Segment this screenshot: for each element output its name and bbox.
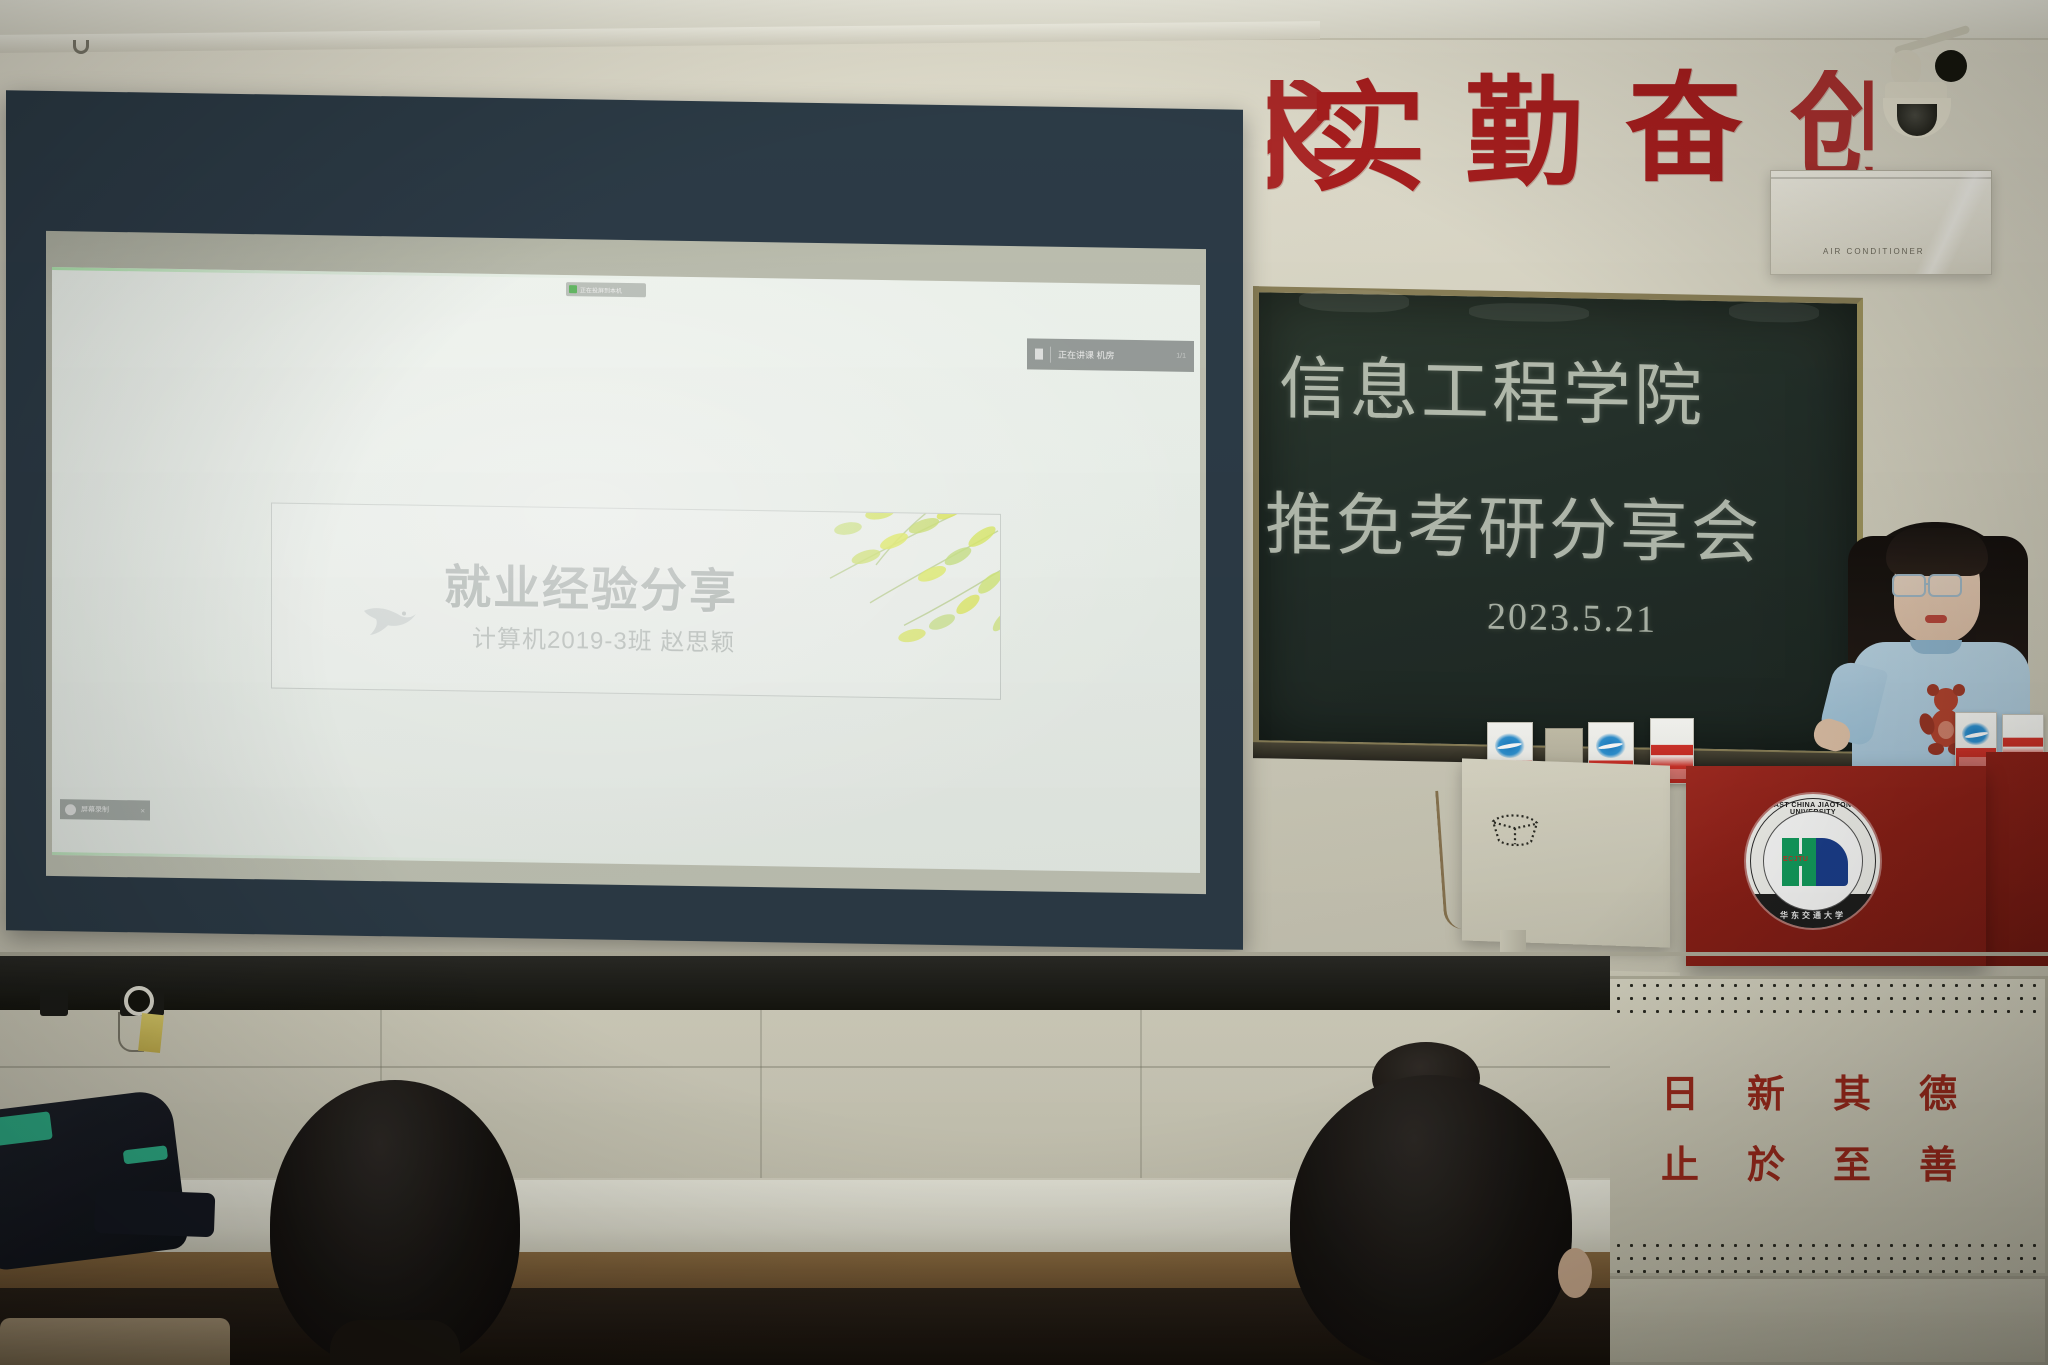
plaque-char: 善 (1919, 1134, 1957, 1189)
blackboard-line-1: 信息工程学院 (1279, 333, 1705, 440)
presenter-collar (1910, 640, 1962, 654)
podium: EAST CHINA JIAOTONG UNIVERSITY ECJTU 华东交… (1686, 766, 1986, 966)
toast-meta: 1/1 (1176, 353, 1186, 360)
backpack-clip (123, 1145, 168, 1164)
blackboard-date: 2023.5.21 (1487, 595, 1657, 642)
panel-perforation-top (1573, 979, 2045, 1013)
slide-card: 就业经验分享 计算机2019-3班 赵思颖 (271, 502, 1001, 699)
camera-hole (1935, 50, 1967, 82)
screen-share-label: 正在投屏到本机 (580, 285, 622, 295)
air-conditioner: AIR CONDITIONER (1770, 170, 1992, 275)
plaque-line-2: 止 於 至 善 (1609, 1134, 2009, 1189)
glasses-lens-right (1928, 574, 1962, 597)
presenter-bangs (1886, 528, 1988, 576)
plaque-char: 新 (1747, 1063, 1785, 1118)
motto-char-2: 勤 (1465, 76, 1583, 194)
camera-dome (1883, 98, 1951, 138)
projection-screen-surface: 就业经验分享 计算机2019-3班 赵思颖 正在投屏到本机 正在讲课 机房 1/… (46, 231, 1206, 894)
backpack-tag (0, 1111, 53, 1146)
chair-back (0, 1318, 230, 1365)
close-icon[interactable]: × (140, 806, 145, 815)
podium-side (1986, 752, 2048, 966)
emblem-mark-text: ECJTU (1783, 856, 1808, 863)
tile-seam (0, 1066, 1610, 1068)
plaque-char: 至 (1833, 1134, 1871, 1189)
toast-app-icon (1035, 348, 1043, 359)
chalk-smear (1469, 302, 1589, 322)
glasses-bridge (1926, 583, 1930, 585)
student-neck (330, 1320, 460, 1365)
emblem-arc-bottom: 华东交通大学 (1746, 910, 1880, 921)
blackboard-line-2: 推免考研分享会 (1265, 468, 1762, 577)
plaque-char: 德 (1919, 1063, 1957, 1118)
ac-sheen (1911, 171, 1991, 274)
slide-title: 就业经验分享 (444, 548, 738, 622)
teaching-console[interactable] (1462, 758, 1670, 947)
plaque-char: 於 (1747, 1134, 1785, 1189)
motto-char-1: 实 (1308, 82, 1426, 200)
flying-bird-icon (360, 601, 420, 638)
glasses-lens-left (1892, 574, 1926, 597)
recording-label: 屏幕录制 (81, 804, 109, 814)
panel-plaque: 日 新 其 德 止 於 至 善 (1609, 1063, 2009, 1193)
projection-edge (52, 852, 1200, 873)
plaque-char: 其 (1833, 1063, 1871, 1118)
blackboard: 信息工程学院 推免考研分享会 2023.5.21 (1253, 286, 1863, 758)
camera-knob (1891, 50, 1921, 86)
socket-tag (138, 1013, 164, 1053)
carton-logo (1596, 733, 1626, 758)
tile-seam (760, 1010, 762, 1180)
notification-toast[interactable]: 正在讲课 机房 1/1 (1027, 338, 1194, 372)
slide-subtitle: 计算机2019-3班 赵思颖 (472, 619, 735, 658)
security-camera-icon (1875, 14, 1985, 134)
plaque-line-1: 日 新 其 德 (1609, 1063, 2009, 1118)
presenter-lips (1925, 615, 1947, 623)
toast-title: 正在讲课 机房 (1058, 348, 1115, 362)
plaque-char: 日 (1661, 1063, 1699, 1118)
chalk-smear (1299, 289, 1409, 313)
student-head (1290, 1075, 1572, 1365)
projection-screen-frame: 就业经验分享 计算机2019-3班 赵思颖 正在投屏到本机 正在讲课 机房 1/… (6, 90, 1243, 949)
backpack (0, 1088, 189, 1271)
console-logo-icon (1488, 807, 1542, 851)
plaque-char: 止 (1661, 1134, 1699, 1189)
projected-desktop: 就业经验分享 计算机2019-3班 赵思颖 正在投屏到本机 正在讲课 机房 1/… (52, 267, 1200, 873)
chalk-smear (1729, 301, 1819, 323)
panel-perforation-bottom (1573, 1239, 2045, 1273)
university-emblem: EAST CHINA JIAOTONG UNIVERSITY ECJTU 华东交… (1746, 794, 1880, 928)
toast-divider (1050, 346, 1051, 362)
ac-brand-label: AIR CONDITIONER (1823, 247, 1925, 256)
wall-socket[interactable] (40, 990, 68, 1016)
motto-char-3: 奋 (1625, 72, 1743, 190)
tile-seam (1140, 1010, 1142, 1180)
student-ear (1558, 1248, 1592, 1298)
front-panel-base (1570, 1276, 2048, 1365)
classroom-photo: 求 实 勤 奋 创 AIR CONDITIONER 信息工程学院 推免考研分享会… (0, 0, 2048, 1365)
backpack-pocket (94, 1189, 215, 1237)
front-wall-panel: 日 新 其 德 止 於 至 善 (1570, 976, 2048, 1276)
record-icon (65, 804, 76, 815)
recording-chip[interactable]: 屏幕录制 × (60, 799, 150, 820)
carton-logo (1962, 722, 1989, 746)
carton-logo (1495, 733, 1525, 758)
wall-dado-band (0, 956, 1610, 1010)
screen-share-pill[interactable]: 正在投屏到本机 (566, 282, 646, 297)
screen-share-icon (569, 285, 577, 293)
